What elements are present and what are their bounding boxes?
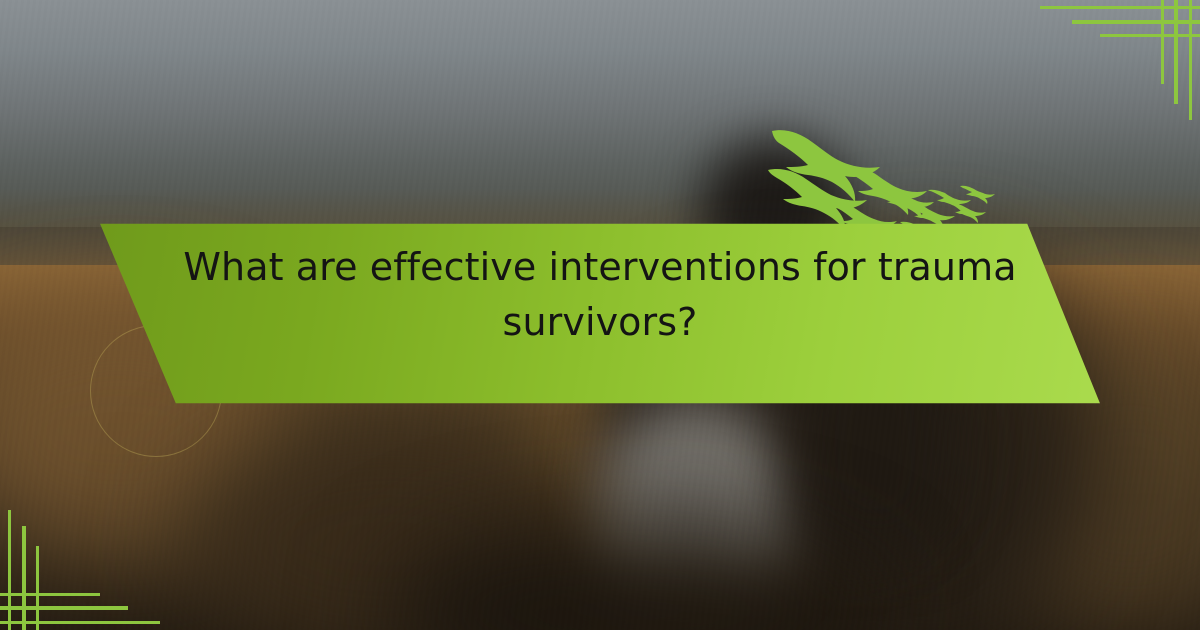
page-title: What are effective interventions for tra… (170, 240, 1030, 351)
corner-line-vertical (1174, 0, 1178, 104)
corner-line-vertical (1161, 0, 1164, 84)
corner-line-horizontal (0, 606, 128, 610)
corner-line-horizontal (0, 593, 100, 596)
corner-line-horizontal (1072, 20, 1200, 24)
corner-line-vertical (36, 546, 39, 630)
corner-line-vertical (1189, 0, 1192, 120)
corner-line-horizontal (1100, 34, 1200, 37)
corner-line-vertical (22, 526, 26, 630)
corner-lines-icon (1040, 0, 1200, 120)
corner-line-vertical (8, 510, 11, 630)
headline-banner: What are effective interventions for tra… (0, 0, 1200, 630)
corner-lines-icon (0, 510, 160, 630)
banner-canvas: What are effective interventions for tra… (0, 0, 1200, 630)
